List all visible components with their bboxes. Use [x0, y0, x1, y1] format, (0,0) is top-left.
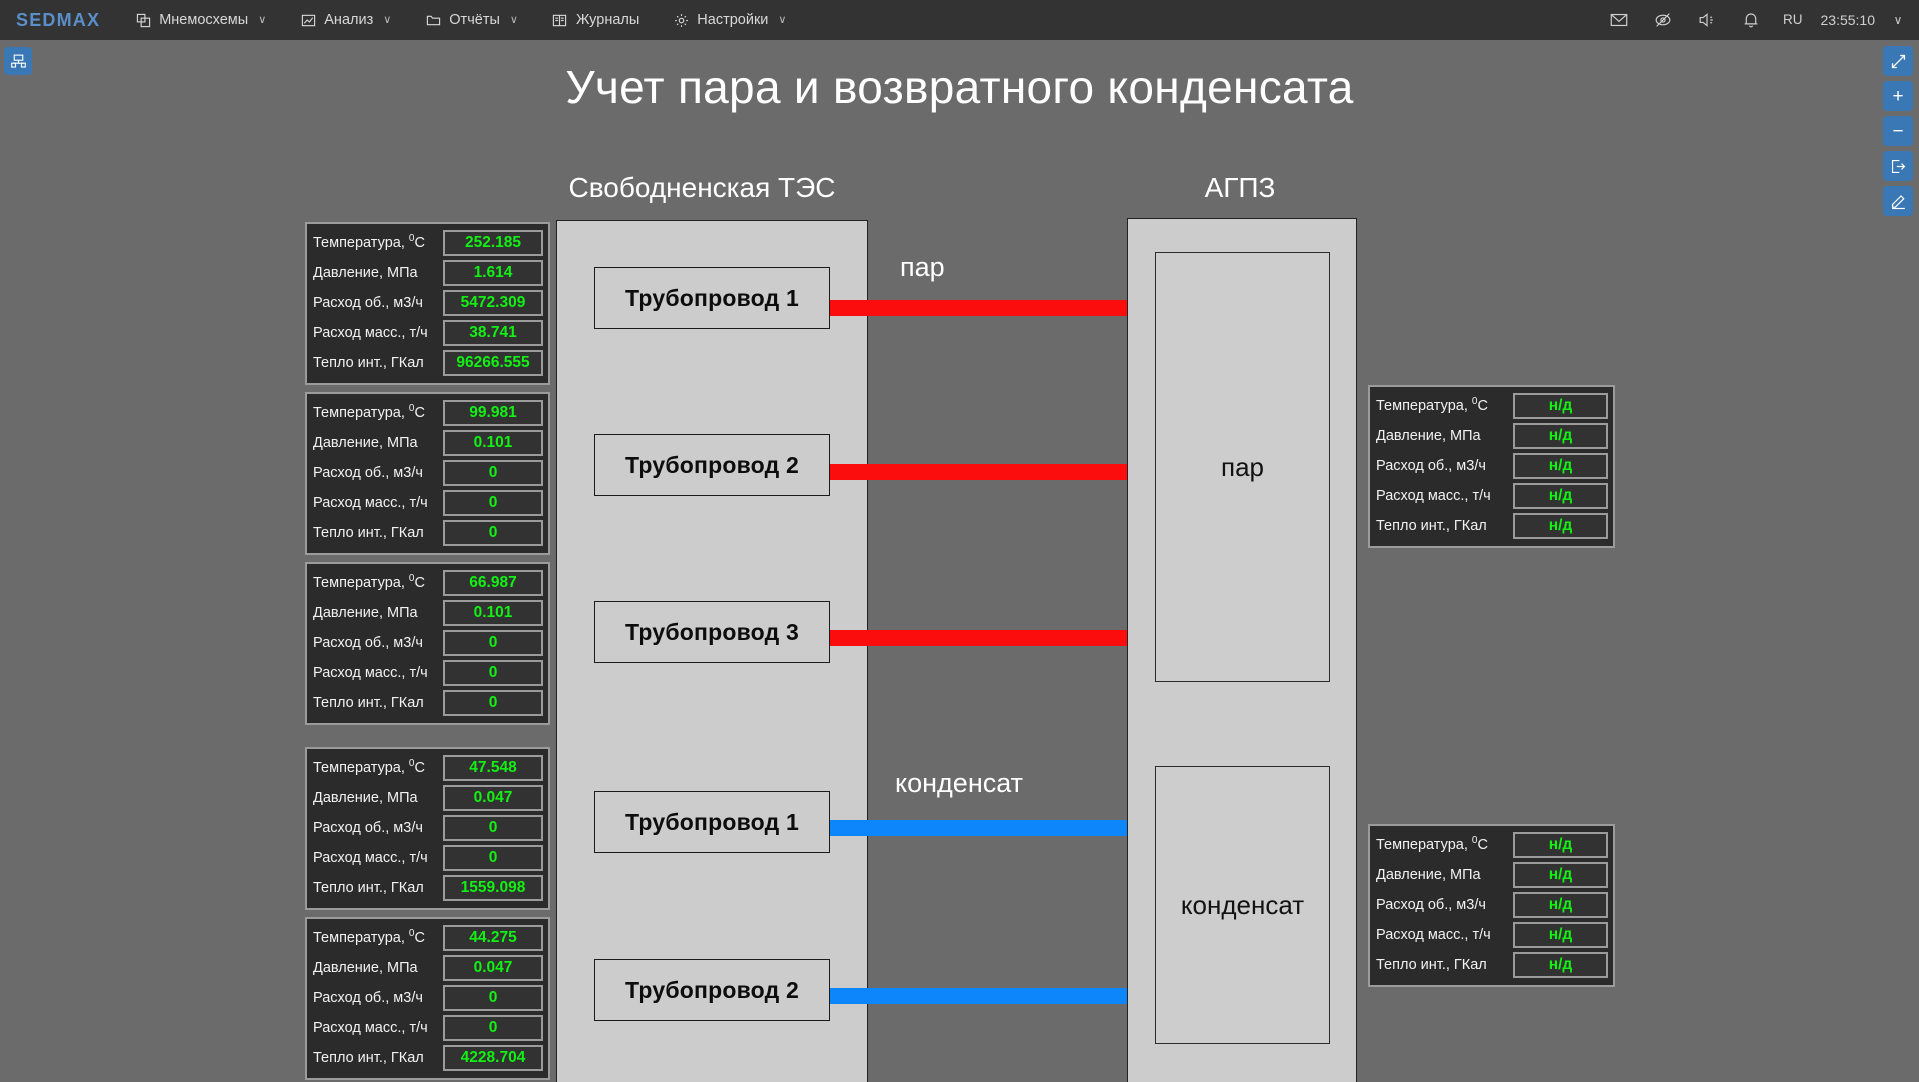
measure-value: 0 [443, 490, 543, 516]
pipeline-box-label: Трубопровод 1 [625, 809, 799, 836]
language-selector[interactable]: RU [1773, 0, 1813, 40]
measure-table-condensate-pipeline-1: Температура, 0С 47.548 Давление, МПа 0.0… [305, 747, 550, 910]
measure-row: Расход об., м3/ч 0 [313, 813, 543, 843]
speaker-icon[interactable] [1685, 0, 1729, 40]
measure-row: Расход об., м3/ч н/д [1376, 451, 1608, 481]
measure-label: Тепло инт., ГКал [1376, 518, 1511, 534]
measure-table-steam-pipeline-3: Температура, 0С 66.987 Давление, МПа 0.1… [305, 562, 550, 725]
tank-label: пар [1221, 452, 1264, 483]
measure-label: Расход об., м3/ч [1376, 458, 1511, 474]
measure-label: Температура, 0С [313, 760, 441, 776]
menu-label: Отчёты [449, 12, 500, 28]
measure-label: Расход масс., т/ч [1376, 488, 1511, 504]
journals-book-icon [552, 12, 568, 28]
pipeline-box-label: Трубопровод 2 [625, 452, 799, 479]
settings-gear-icon [673, 12, 689, 28]
measure-label: Температура, 0С [313, 575, 441, 591]
measure-label: Температура, 0С [313, 930, 441, 946]
measure-value: 47.548 [443, 755, 543, 781]
menu-item-journals[interactable]: Журналы [535, 0, 656, 40]
measure-row: Тепло инт., ГКал 0 [313, 518, 543, 548]
measure-label: Расход масс., т/ч [313, 495, 441, 511]
measure-label: Расход масс., т/ч [313, 665, 441, 681]
menu-item-mnemoschemes[interactable]: Мнемосхемы ∨ [118, 0, 283, 40]
scada-mnemonic-page: SEDMAX Мнемосхемы ∨ [0, 0, 1919, 1082]
pipe-steam-3 [824, 630, 1127, 646]
mnemonic-schemes-icon [135, 12, 151, 28]
measure-row: Расход масс., т/ч 0 [313, 488, 543, 518]
measure-value: 0.047 [443, 785, 543, 811]
measure-label: Тепло инт., ГКал [313, 525, 441, 541]
measure-label: Тепло инт., ГКал [313, 355, 441, 371]
measure-row: Расход об., м3/ч 0 [313, 628, 543, 658]
mnemonic-scheme-icon[interactable] [4, 47, 32, 75]
measure-value: 0.101 [443, 600, 543, 626]
chevron-down-icon: ∨ [778, 15, 786, 26]
flow-label-steam: пар [900, 252, 945, 283]
pipe-condensate-1 [824, 820, 1127, 836]
measure-label: Температура, 0С [313, 235, 441, 251]
measure-label: Давление, МПа [313, 605, 441, 621]
measure-value: 0 [443, 520, 543, 546]
measure-value: 1.614 [443, 260, 543, 286]
pipeline-box-label: Трубопровод 2 [625, 977, 799, 1004]
measure-label: Давление, МПа [313, 790, 441, 806]
measure-value: н/д [1513, 862, 1608, 888]
measure-row: Расход масс., т/ч н/д [1376, 481, 1608, 511]
measure-value: 252.185 [443, 230, 543, 256]
measure-row: Температура, 0С 44.275 [313, 923, 543, 953]
mnemonic-canvas: Учет пара и возвратного конденсата Свобо… [0, 40, 1919, 1082]
measure-table-steam-pipeline-1: Температура, 0С 252.185 Давление, МПа 1.… [305, 222, 550, 385]
export-icon[interactable] [1883, 151, 1913, 181]
measure-row: Давление, МПа 0.101 [313, 598, 543, 628]
measure-value: н/д [1513, 483, 1608, 509]
plus-glyph: + [1892, 87, 1903, 106]
chevron-down-icon: ∨ [510, 15, 518, 26]
measure-label: Расход масс., т/ч [1376, 927, 1511, 943]
measure-row: Расход масс., т/ч н/д [1376, 920, 1608, 950]
measure-table-agpz-condensate: Температура, 0С н/д Давление, МПа н/д Ра… [1368, 824, 1615, 987]
measure-value: 99.981 [443, 400, 543, 426]
measure-value: 0 [443, 690, 543, 716]
analysis-chart-icon [300, 12, 316, 28]
measure-label: Давление, МПа [313, 265, 441, 281]
menu-label: Мнемосхемы [159, 12, 248, 28]
measure-label: Тепло инт., ГКал [1376, 957, 1511, 973]
top-navigation-bar: SEDMAX Мнемосхемы ∨ [0, 0, 1919, 40]
measure-row: Тепло инт., ГКал 96266.555 [313, 348, 543, 378]
plant-label-agpz: АГПЗ [1126, 172, 1354, 204]
left-toolbar-rail [0, 40, 36, 1082]
pipe-steam-1 [824, 300, 1127, 316]
menu-item-settings[interactable]: Настройки ∨ [656, 0, 803, 40]
pipeline-box-label: Трубопровод 1 [625, 285, 799, 312]
flow-label-condensate: конденсат [895, 768, 1023, 799]
menu-label: Анализ [324, 12, 373, 28]
measure-table-condensate-pipeline-2: Температура, 0С 44.275 Давление, МПа 0.0… [305, 917, 550, 1080]
measure-value: 0.047 [443, 955, 543, 981]
clock-time: 23:55:10 [1813, 0, 1884, 40]
user-menu-chevron-down-icon[interactable]: ∨ [1883, 0, 1913, 40]
measure-value: 66.987 [443, 570, 543, 596]
measure-value: 0 [443, 460, 543, 486]
measure-value: н/д [1513, 453, 1608, 479]
measure-row: Расход об., м3/ч н/д [1376, 890, 1608, 920]
measure-label: Расход об., м3/ч [313, 295, 441, 311]
measure-table-agpz-steam: Температура, 0С н/д Давление, МПа н/д Ра… [1368, 385, 1615, 548]
measure-value: 5472.309 [443, 290, 543, 316]
measure-value: н/д [1513, 832, 1608, 858]
measure-value: н/д [1513, 393, 1608, 419]
measure-row: Температура, 0С н/д [1376, 391, 1608, 421]
measure-row: Давление, МПа 0.047 [313, 783, 543, 813]
measure-value: 96266.555 [443, 350, 543, 376]
zoom-in-plus-icon[interactable]: + [1883, 81, 1913, 111]
measure-label: Тепло инт., ГКал [313, 695, 441, 711]
measure-row: Расход масс., т/ч 0 [313, 1013, 543, 1043]
plant-label-tes: Свободненская ТЭС [544, 172, 860, 204]
measure-value: 0 [443, 845, 543, 871]
measure-label: Давление, МПа [313, 435, 441, 451]
menu-label: Настройки [697, 12, 768, 28]
tank-steam[interactable]: пар [1155, 252, 1330, 682]
pipe-condensate-2 [824, 988, 1127, 1004]
measure-row: Температура, 0С 66.987 [313, 568, 543, 598]
measure-row: Расход об., м3/ч 0 [313, 983, 543, 1013]
measure-label: Расход масс., т/ч [313, 325, 441, 341]
topbar-status-area: RU 23:55:10 ∨ [1597, 0, 1919, 40]
measure-value: 44.275 [443, 925, 543, 951]
measure-row: Температура, 0С н/д [1376, 830, 1608, 860]
measure-value: н/д [1513, 423, 1608, 449]
measure-label: Расход об., м3/ч [313, 990, 441, 1006]
pipeline-box-condensate-1[interactable]: Трубопровод 1 [594, 791, 830, 853]
pipe-steam-2 [824, 464, 1127, 480]
measure-label: Температура, 0С [1376, 837, 1511, 853]
measure-label: Температура, 0С [313, 405, 441, 421]
chevron-down-icon: ∨ [258, 15, 266, 26]
pipeline-box-condensate-2[interactable]: Трубопровод 2 [594, 959, 830, 1021]
measure-value: 0.101 [443, 430, 543, 456]
menu-label: Журналы [576, 12, 639, 28]
zoom-out-minus-icon[interactable]: − [1883, 116, 1913, 146]
measure-row: Давление, МПа н/д [1376, 860, 1608, 890]
measure-value: н/д [1513, 952, 1608, 978]
pipeline-box-steam-1[interactable]: Трубопровод 1 [594, 267, 830, 329]
measure-row: Температура, 0С 99.981 [313, 398, 543, 428]
tank-condensate[interactable]: конденсат [1155, 766, 1330, 1044]
measure-table-steam-pipeline-2: Температура, 0С 99.981 Давление, МПа 0.1… [305, 392, 550, 555]
measure-row: Тепло инт., ГКал 4228.704 [313, 1043, 543, 1073]
measure-value: 38.741 [443, 320, 543, 346]
measure-row: Расход масс., т/ч 0 [313, 843, 543, 873]
measure-row: Давление, МПа 0.101 [313, 428, 543, 458]
measure-row: Тепло инт., ГКал н/д [1376, 511, 1608, 541]
measure-value: 0 [443, 660, 543, 686]
measure-row: Давление, МПа 1.614 [313, 258, 543, 288]
measure-label: Температура, 0С [1376, 398, 1511, 414]
measure-row: Расход об., м3/ч 5472.309 [313, 288, 543, 318]
measure-row: Давление, МПа н/д [1376, 421, 1608, 451]
measure-row: Температура, 0С 252.185 [313, 228, 543, 258]
measure-value: н/д [1513, 513, 1608, 539]
measure-label: Давление, МПа [1376, 428, 1511, 444]
mail-icon[interactable] [1597, 0, 1641, 40]
sedmax-logo[interactable]: SEDMAX [0, 10, 118, 31]
chevron-down-icon: ∨ [383, 15, 391, 26]
measure-row: Расход масс., т/ч 0 [313, 658, 543, 688]
menu-item-analysis[interactable]: Анализ ∨ [283, 0, 408, 40]
pipeline-box-label: Трубопровод 3 [625, 619, 799, 646]
measure-row: Тепло инт., ГКал н/д [1376, 950, 1608, 980]
reports-folder-icon [425, 12, 441, 28]
measure-value: 0 [443, 1015, 543, 1041]
measure-value: н/д [1513, 892, 1608, 918]
edit-pencil-icon[interactable] [1883, 186, 1913, 216]
measure-value: 0 [443, 815, 543, 841]
main-menu: Мнемосхемы ∨ Анализ ∨ [118, 0, 803, 40]
tank-label: конденсат [1181, 890, 1304, 921]
page-title: Учет пара и возвратного конденсата [0, 60, 1919, 114]
measure-label: Расход масс., т/ч [313, 1020, 441, 1036]
right-toolbar-rail: + − [1877, 40, 1919, 1082]
minus-glyph: − [1892, 122, 1903, 141]
fullscreen-expand-icon[interactable] [1883, 46, 1913, 76]
measure-label: Давление, МПа [313, 960, 441, 976]
measure-row: Давление, МПа 0.047 [313, 953, 543, 983]
pipeline-box-steam-2[interactable]: Трубопровод 2 [594, 434, 830, 496]
measure-value: 4228.704 [443, 1045, 543, 1071]
measure-value: 0 [443, 630, 543, 656]
measure-label: Тепло инт., ГКал [313, 1050, 441, 1066]
measure-label: Тепло инт., ГКал [313, 880, 441, 896]
eye-off-icon[interactable] [1641, 0, 1685, 40]
measure-row: Тепло инт., ГКал 0 [313, 688, 543, 718]
menu-item-reports[interactable]: Отчёты ∨ [408, 0, 535, 40]
measure-label: Расход об., м3/ч [1376, 897, 1511, 913]
measure-label: Расход об., м3/ч [313, 820, 441, 836]
measure-label: Расход масс., т/ч [313, 850, 441, 866]
measure-row: Расход об., м3/ч 0 [313, 458, 543, 488]
measure-value: н/д [1513, 922, 1608, 948]
measure-row: Температура, 0С 47.548 [313, 753, 543, 783]
bell-icon[interactable] [1729, 0, 1773, 40]
measure-row: Тепло инт., ГКал 1559.098 [313, 873, 543, 903]
pipeline-box-steam-3[interactable]: Трубопровод 3 [594, 601, 830, 663]
measure-label: Расход об., м3/ч [313, 635, 441, 651]
measure-value: 0 [443, 985, 543, 1011]
measure-value: 1559.098 [443, 875, 543, 901]
measure-row: Расход масс., т/ч 38.741 [313, 318, 543, 348]
measure-label: Расход об., м3/ч [313, 465, 441, 481]
measure-label: Давление, МПа [1376, 867, 1511, 883]
